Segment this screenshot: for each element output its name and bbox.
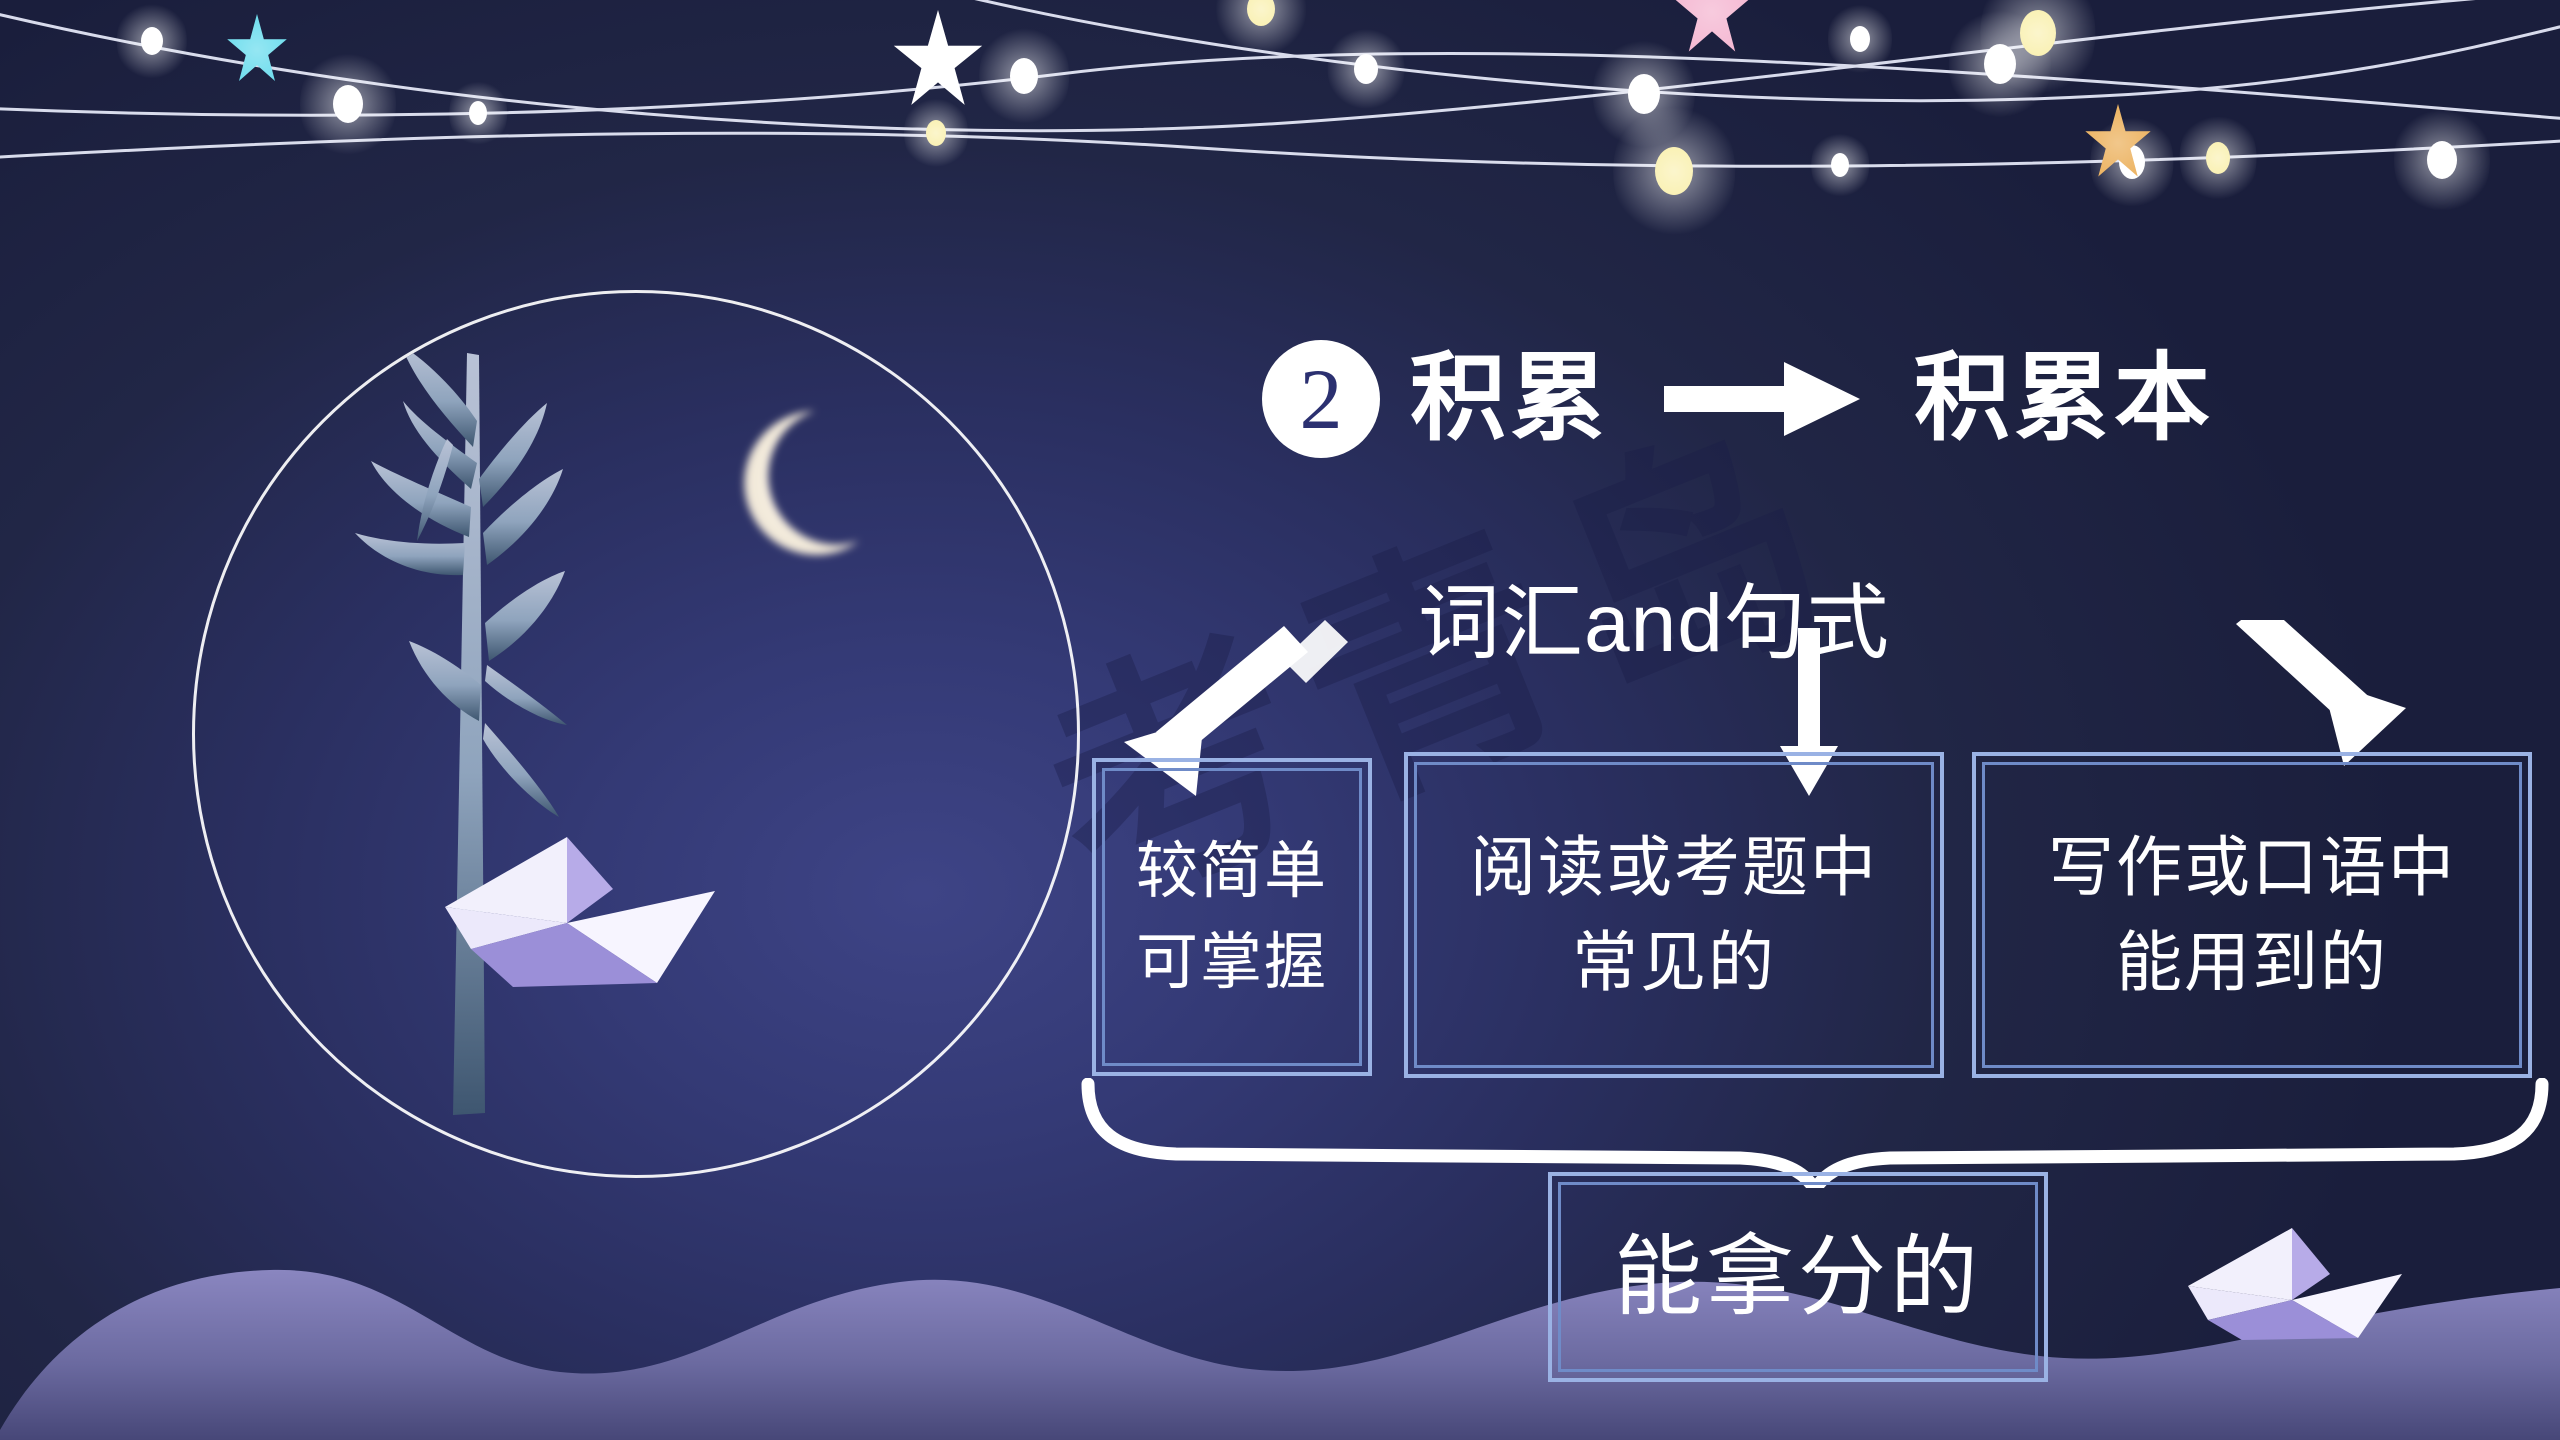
criteria-box-2[interactable]: 阅读或考题中 常见的 bbox=[1404, 752, 1944, 1078]
conclusion-box[interactable]: 能拿分的 bbox=[1548, 1172, 2048, 1382]
right-arrow-icon bbox=[1664, 362, 1860, 436]
light-bulb bbox=[141, 27, 163, 55]
criteria-box-2-line-1: 阅读或考题中 bbox=[1470, 833, 1878, 902]
string-lights bbox=[0, 0, 2560, 260]
criteria-box-3-line-1: 写作或口语中 bbox=[2048, 833, 2456, 902]
light-bulb bbox=[469, 101, 487, 125]
criteria-box-3-line-2: 能用到的 bbox=[2116, 928, 2388, 997]
step-number-badge: 2 bbox=[1262, 340, 1380, 458]
crescent-moon-icon bbox=[744, 411, 859, 555]
slide-canvas: 考青岛 bbox=[0, 0, 2560, 1440]
night-scene-circle bbox=[192, 290, 1080, 1178]
bare-tree-icon bbox=[355, 345, 567, 1115]
criteria-box-1-line-1: 较简单 bbox=[1136, 839, 1328, 904]
header-target-label: 积累本 bbox=[1914, 351, 2214, 447]
page-title: 积累 bbox=[1410, 351, 1610, 447]
criteria-box-1-line-2: 可掌握 bbox=[1136, 930, 1328, 995]
light-bulb bbox=[1247, 0, 1275, 26]
criteria-box-2-line-2: 常见的 bbox=[1572, 928, 1776, 997]
light-bulb bbox=[1831, 153, 1849, 177]
light-bulb bbox=[1850, 26, 1870, 52]
light-bulb bbox=[2206, 142, 2230, 174]
light-bulb bbox=[1655, 147, 1693, 195]
light-bulb bbox=[333, 85, 363, 123]
paper-boat-icon bbox=[2180, 1228, 2410, 1356]
conclusion-box-inner: 能拿分的 bbox=[1558, 1182, 2038, 1372]
arrow-down-right-icon bbox=[2236, 620, 2406, 766]
bottom-wave bbox=[0, 1240, 2560, 1440]
section-header: 2 积累 积累本 bbox=[1262, 340, 2214, 458]
light-bulb bbox=[1354, 54, 1378, 84]
paper-boat-icon bbox=[445, 837, 715, 987]
light-bulb bbox=[2020, 10, 2056, 56]
light-bulb bbox=[1010, 58, 1038, 94]
criteria-box-3[interactable]: 写作或口语中 能用到的 bbox=[1972, 752, 2532, 1078]
criteria-box-3-inner: 写作或口语中 能用到的 bbox=[1982, 762, 2522, 1068]
light-bulb bbox=[926, 120, 946, 146]
light-bulb bbox=[2427, 141, 2457, 179]
criteria-box-1-inner: 较简单 可掌握 bbox=[1102, 768, 1362, 1066]
criteria-box-1[interactable]: 较简单 可掌握 bbox=[1092, 758, 1372, 1076]
criteria-box-2-inner: 阅读或考题中 常见的 bbox=[1414, 762, 1934, 1068]
conclusion-box-line-1: 能拿分的 bbox=[1614, 1231, 1982, 1323]
